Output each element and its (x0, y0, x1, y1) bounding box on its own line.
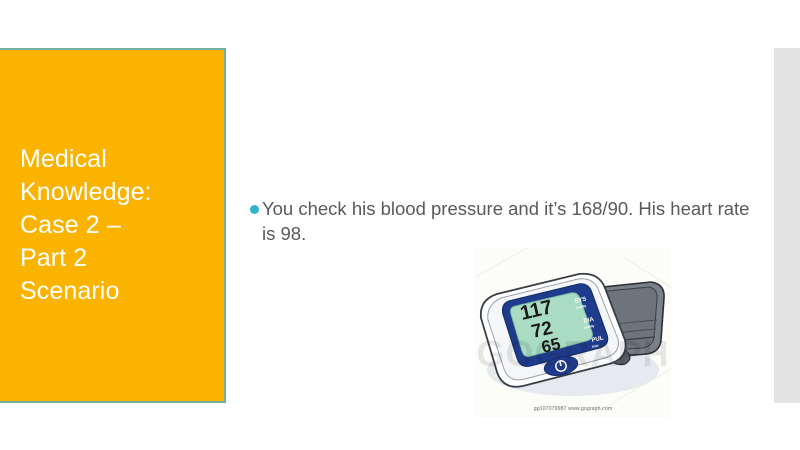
image-credit: gg107079987 www.gograph.com (475, 406, 671, 412)
list-item: You check his blood pressure and it’s 16… (250, 196, 750, 246)
title-block: Medical Knowledge: Case 2 – Part 2 Scena… (0, 48, 226, 403)
page-title: Medical Knowledge: Case 2 – Part 2 Scena… (0, 143, 162, 308)
bullet-dot-icon (250, 205, 259, 214)
gograph-watermark: GOGRAPH (476, 333, 669, 374)
blood-pressure-monitor-graphic: 117 72 65 SYS mmHg DIA mmHg PUL /min (475, 248, 671, 418)
slide: Medical Knowledge: Case 2 – Part 2 Scena… (0, 0, 800, 450)
bullet-text: You check his blood pressure and it’s 16… (262, 196, 750, 246)
right-decorative-bar (774, 48, 800, 403)
blood-pressure-monitor-image: 117 72 65 SYS mmHg DIA mmHg PUL /min (475, 248, 671, 418)
body-content: You check his blood pressure and it’s 16… (250, 196, 750, 246)
